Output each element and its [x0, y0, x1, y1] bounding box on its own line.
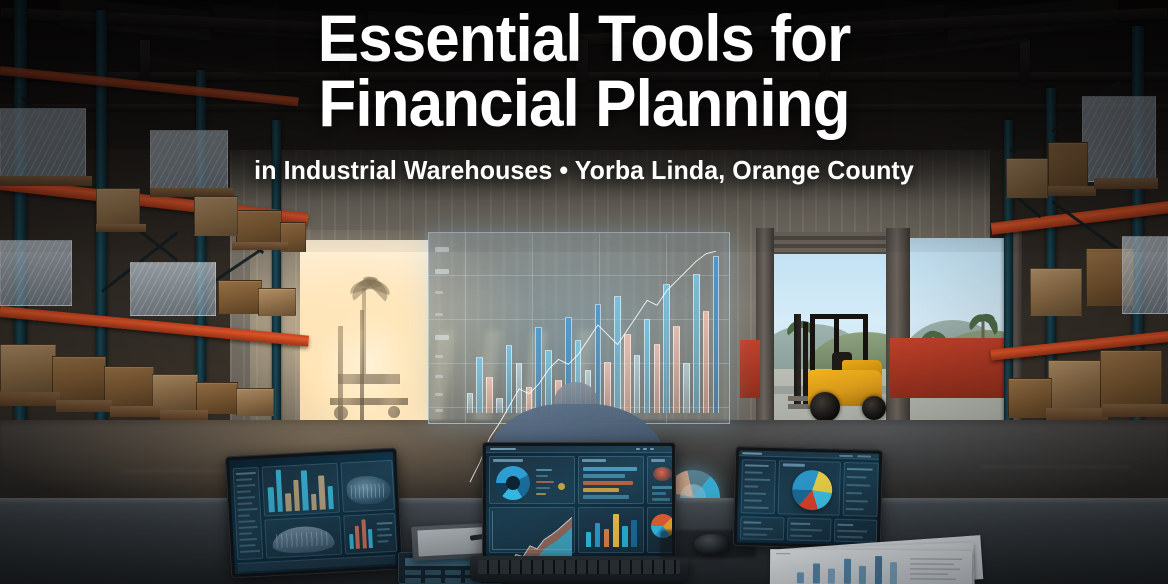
- monitor-legend-panel: [843, 462, 879, 517]
- bar: [361, 519, 366, 548]
- tablet-3d-mesh-panel: [264, 516, 342, 559]
- tablet-3d-visualization[interactable]: [225, 448, 403, 579]
- laptop-area-chart-panel: [489, 507, 575, 553]
- bar: [293, 480, 300, 511]
- monitor-left-list: [741, 459, 776, 514]
- shrink-wrapped-pallet: [1082, 96, 1156, 182]
- laptop-keyboard[interactable]: [478, 560, 680, 574]
- laptop-donut-panel: [489, 456, 575, 504]
- bar: [622, 526, 628, 547]
- bar: [586, 532, 592, 547]
- bar: [311, 494, 317, 510]
- report-bar: [890, 562, 897, 584]
- bar: [595, 523, 601, 547]
- cardboard-box: [1048, 142, 1088, 190]
- pie-chart: [792, 470, 833, 511]
- tablet-kpi-bars-panel: [343, 513, 397, 555]
- printed-reports-stack: [770, 520, 1020, 584]
- laptop-keyboard-base[interactable]: [470, 556, 688, 582]
- bar: [268, 487, 275, 512]
- hero-banner: Essential Tools for Financial Planning i…: [0, 0, 1168, 584]
- bar: [285, 493, 292, 512]
- bar: [349, 534, 354, 549]
- cardboard-box: [96, 188, 140, 226]
- report-bar: [813, 564, 820, 584]
- bar: [368, 529, 373, 548]
- report-bar: [874, 556, 881, 584]
- report-bar: [797, 572, 804, 583]
- tablet-data-table: [233, 467, 264, 560]
- shrink-wrapped-pallet: [0, 108, 86, 180]
- forklift: [786, 308, 906, 430]
- sunset-bay-door: [300, 240, 428, 440]
- donut-chart: [496, 466, 530, 500]
- laptop-heatmap-panel: [647, 456, 672, 504]
- tablet-3d-surface-panel: [340, 460, 395, 513]
- monitor-pie-panel: [778, 460, 841, 516]
- tablet-3d-bars-panel: [262, 463, 341, 517]
- laptop-hbar-panel: [578, 456, 644, 504]
- top-report-sheet: [770, 549, 972, 584]
- bar: [604, 529, 610, 547]
- hologram-axis-labels: [435, 243, 461, 411]
- roll-up-shutter: [772, 232, 890, 254]
- report-bar: [844, 559, 851, 584]
- bay-door-frame: [756, 228, 774, 434]
- bar: [275, 470, 283, 512]
- bar: [327, 486, 334, 509]
- laptop-dashboard-screen[interactable]: [482, 442, 676, 560]
- bar: [355, 525, 360, 548]
- report-bar: [859, 566, 866, 584]
- computer-mouse[interactable]: [694, 534, 730, 554]
- bar: [613, 514, 619, 547]
- bar: [631, 520, 637, 547]
- laptop-bar-chart-panel: [578, 507, 644, 553]
- bar: [301, 470, 309, 510]
- bar: [318, 476, 325, 510]
- report-bar: [828, 569, 835, 584]
